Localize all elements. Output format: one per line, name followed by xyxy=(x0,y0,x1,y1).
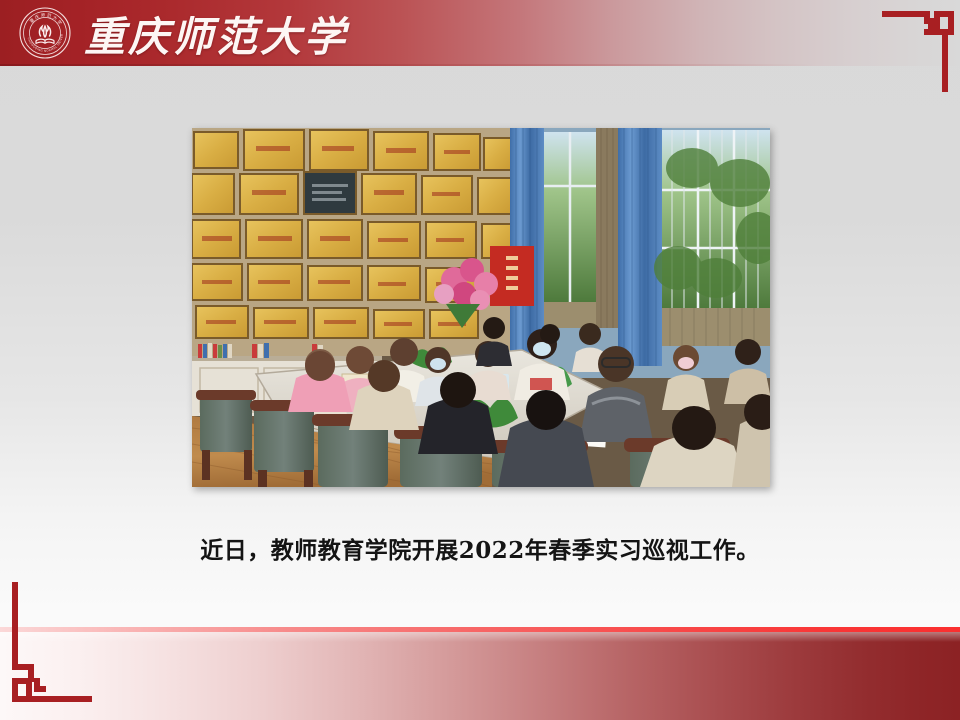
slide-footer-band xyxy=(0,627,960,720)
meeting-room-photograph xyxy=(192,128,770,487)
footer-sheen xyxy=(0,632,960,642)
university-wordmark: 重庆师范大学 xyxy=(84,4,348,62)
footer-gradient-fill xyxy=(0,632,960,720)
photo-image xyxy=(192,128,770,487)
presentation-slide: 重庆师范大学 CHONGQING NORMAL UNIVERSITY xyxy=(0,0,960,720)
chinese-fret-corner-icon-bottom-left xyxy=(12,582,92,712)
university-seal-icon: 重庆师范大学 CHONGQING NORMAL UNIVERSITY xyxy=(19,7,71,59)
chinese-fret-corner-icon-top-right xyxy=(882,0,960,92)
slide-caption: 近日，教师教育学院开展2022年春季实习巡视工作。 xyxy=(0,531,960,565)
svg-text:重庆师范大学: 重庆师范大学 xyxy=(28,11,64,27)
slide-header-band: 重庆师范大学 CHONGQING NORMAL UNIVERSITY xyxy=(0,0,960,66)
